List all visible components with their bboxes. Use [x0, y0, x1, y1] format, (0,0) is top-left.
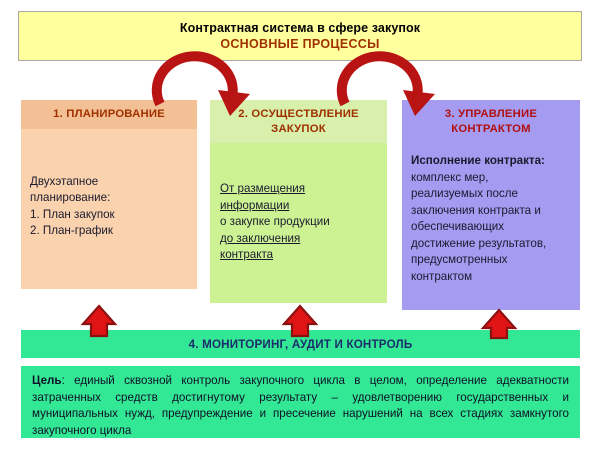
column-header-contract-line1: 3. УПРАВЛЕНИЕ — [406, 107, 576, 122]
contract-line-5: достижение результатов, — [411, 236, 571, 253]
procurement-line-3: о закупке продукции — [220, 214, 377, 231]
procurement-line-1: От размещения — [220, 181, 377, 198]
contract-line-1: комплекс мер, — [411, 170, 571, 187]
contract-line-4: обеспечивающих — [411, 219, 571, 236]
procurement-line-2: информации — [220, 198, 377, 215]
contract-line-7: контрактом — [411, 269, 571, 286]
title-line-primary: Контрактная система в сфере закупок — [180, 20, 420, 36]
diagram-canvas: Контрактная система в сфере закупок ОСНО… — [0, 0, 600, 450]
column-body-contract-management: Исполнение контракта: комплекс мер, реал… — [402, 143, 580, 310]
title-line-secondary: ОСНОВНЫЕ ПРОЦЕССЫ — [220, 36, 379, 53]
process-column-procurement: 2. ОСУЩЕСТВЛЕНИЕ ЗАКУПОК От размещения и… — [210, 100, 387, 303]
contract-bold-lead: Исполнение контракта: — [411, 153, 571, 170]
goal-box: Цель: единый сквозной контроль закупочно… — [21, 366, 580, 438]
process-column-contract-management: 3. УПРАВЛЕНИЕ КОНТРАКТОМ Исполнение конт… — [402, 100, 580, 310]
monitoring-label: 4. МОНИТОРИНГ, АУДИТ И КОНТРОЛЬ — [189, 338, 413, 351]
contract-line-3: заключения контракта и — [411, 203, 571, 220]
column-header-procurement-line2: ЗАКУПОК — [214, 122, 383, 137]
column-header-contract-management: 3. УПРАВЛЕНИЕ КОНТРАКТОМ — [402, 100, 580, 143]
column-body-planning: Двухэтапное планирование: 1. План закупо… — [21, 129, 197, 289]
goal-text: Цель: единый сквозной контроль закупочно… — [32, 373, 569, 439]
title-box: Контрактная система в сфере закупок ОСНО… — [18, 11, 582, 61]
contract-line-6: предусмотренных — [411, 252, 571, 269]
process-column-planning: 1. ПЛАНИРОВАНИЕ Двухэтапное планирование… — [21, 100, 197, 289]
procurement-line-5: контракта — [220, 247, 377, 264]
planning-line-3: 1. План закупок — [30, 207, 188, 224]
procurement-line-4: до заключения — [220, 231, 377, 248]
goal-body-text: единый сквозной контроль закупочного цик… — [32, 374, 569, 437]
planning-line-2: планирование: — [30, 190, 188, 207]
column-header-procurement: 2. ОСУЩЕСТВЛЕНИЕ ЗАКУПОК — [210, 100, 387, 143]
goal-lead-label: Цель — [32, 374, 62, 387]
goal-separator: : — [62, 374, 75, 387]
column-header-planning: 1. ПЛАНИРОВАНИЕ — [21, 100, 197, 129]
column-header-contract-line2: КОНТРАКТОМ — [406, 122, 576, 137]
monitoring-banner: 4. МОНИТОРИНГ, АУДИТ И КОНТРОЛЬ — [21, 330, 580, 358]
contract-line-2: реализуемых после — [411, 186, 571, 203]
planning-line-4: 2. План-график — [30, 223, 188, 240]
column-header-procurement-line1: 2. ОСУЩЕСТВЛЕНИЕ — [214, 107, 383, 122]
column-body-procurement: От размещения информации о закупке проду… — [210, 143, 387, 303]
planning-line-1: Двухэтапное — [30, 174, 188, 191]
